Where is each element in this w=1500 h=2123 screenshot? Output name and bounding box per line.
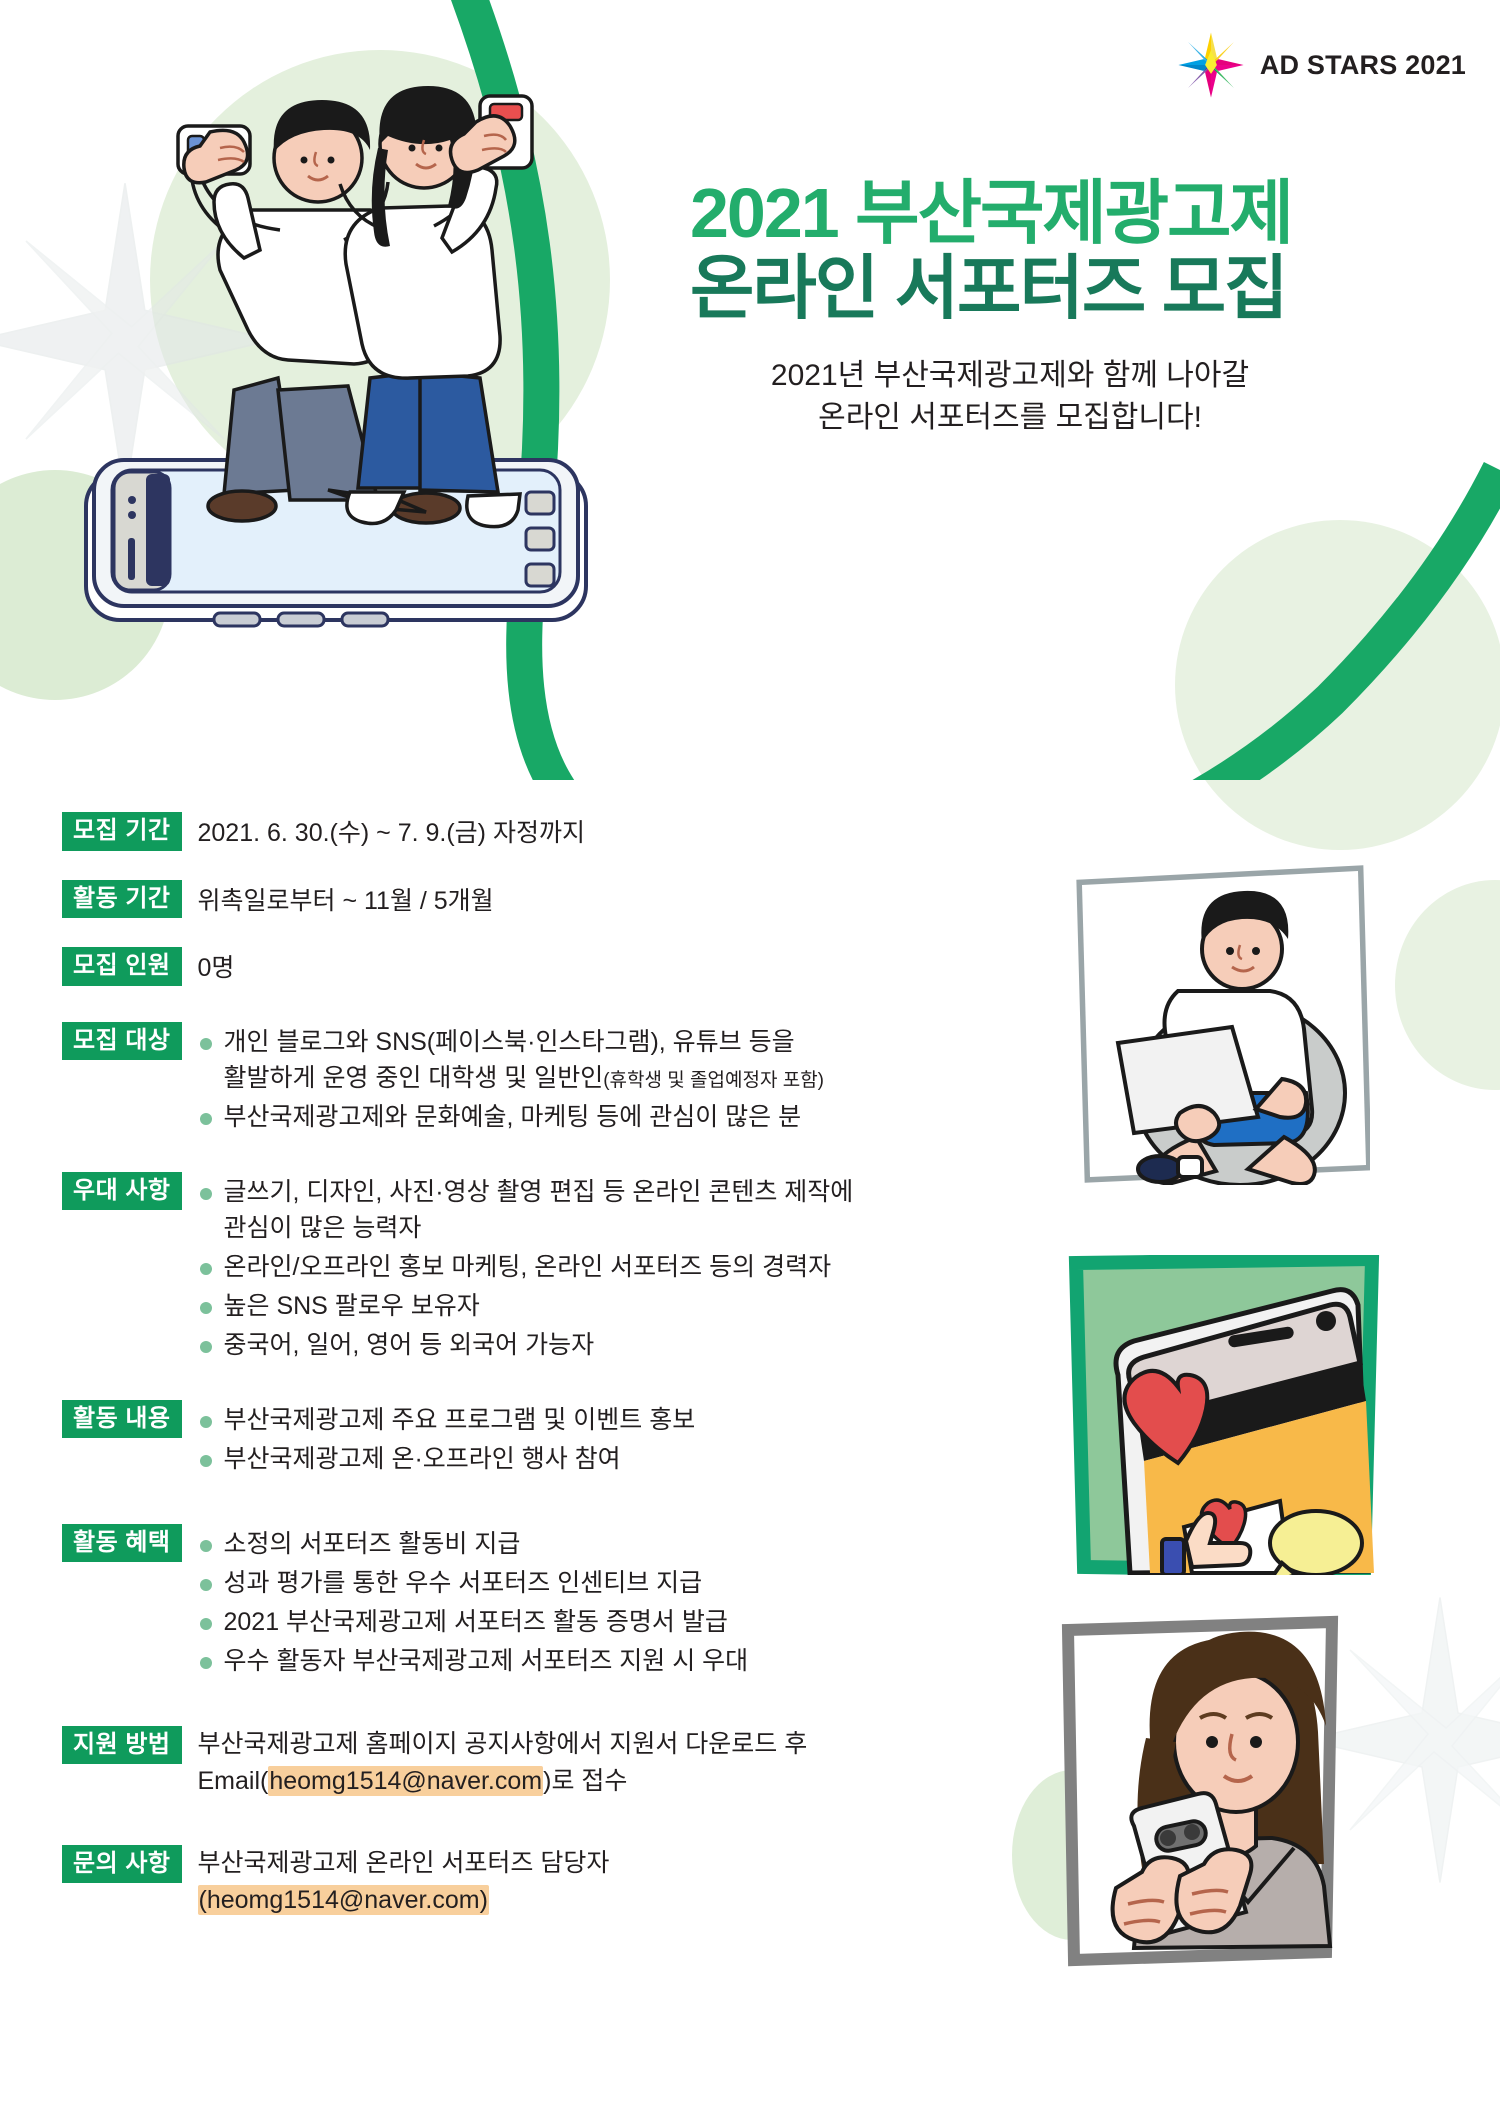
target-bullet-1-note: (휴학생 및 졸업예정자 포함) [603, 1070, 824, 1091]
adstars-logo-text: AD STARS 2021 [1260, 50, 1466, 81]
list-item: 소정의 서포터즈 활동비 지급 [198, 1526, 749, 1562]
label-benefits: 활동 혜택 [62, 1524, 182, 1563]
label-activity-content: 활동 내용 [62, 1400, 182, 1439]
label-recruit-period: 모집 기간 [62, 812, 182, 851]
title-line-2: 온라인 서포터즈 모집 [690, 253, 1330, 324]
woman-with-smartphone-illustration [1040, 1612, 1352, 1967]
section-preferred: 우대 사항 글쓰기, 디자인, 사진·영상 촬영 편집 등 온라인 콘텐츠 제작… [62, 1172, 982, 1366]
list-item: 우수 활동자 부산국제광고제 서포터즈 지원 시 우대 [198, 1643, 749, 1679]
inquiry-text: 부산국제광고제 온라인 서포터즈 담당자 (heomg1514@naver.co… [198, 1845, 610, 1920]
label-preferred: 우대 사항 [62, 1172, 182, 1211]
target-bullet-1-line2: 활발하게 운영 중인 대학생 및 일반인 [224, 1064, 604, 1092]
value-activity-period: 위촉일로부터 ~ 11월 / 5개월 [198, 880, 494, 921]
list-item: 중국어, 일어, 영어 등 외국어 가능자 [198, 1327, 854, 1363]
subtitle-line-1: 2021년 부산국제광고제와 함께 나아갈 [690, 355, 1330, 398]
boy-with-laptop-illustration [1070, 865, 1370, 1185]
label-inquiry: 문의 사항 [62, 1845, 182, 1884]
title-block: 2021 부산국제광고제 온라인 서포터즈 모집 2021년 부산국제광고제와 … [690, 178, 1330, 440]
section-how-to-apply: 지원 방법 부산국제광고제 홈페이지 공지사항에서 지원서 다운로드 후 Ema… [62, 1726, 982, 1801]
inquiry-email-link[interactable]: (heomg1514@naver.com) [198, 1885, 489, 1915]
target-bullet-1-line1: 개인 블로그와 SNS(페이스북·인스타그램), 유튜브 등을 [224, 1028, 795, 1056]
list-item: 성과 평가를 통한 우수 서포터즈 인센티브 지급 [198, 1565, 749, 1601]
hero-illustration [28, 60, 668, 685]
inquiry-line-1: 부산국제광고제 온라인 서포터즈 담당자 [198, 1845, 610, 1883]
title-line-1: 2021 부산국제광고제 [690, 178, 1330, 249]
section-recruit-count: 모집 인원 0명 [62, 947, 982, 988]
activity-content-bullet-list: 부산국제광고제 주요 프로그램 및 이벤트 홍보 부산국제광고제 온·오프라인 … [198, 1400, 696, 1480]
illustration-frame-woman-phone [1040, 1612, 1352, 1967]
email-suffix: )로 접수 [543, 1767, 627, 1795]
list-item: 부산국제광고제 온·오프라인 행사 참여 [198, 1441, 696, 1477]
list-item: 온라인/오프라인 홍보 마케팅, 온라인 서포터즈 등의 경력자 [198, 1249, 854, 1285]
label-activity-period: 활동 기간 [62, 880, 182, 919]
value-recruit-count: 0명 [198, 947, 235, 988]
list-item: 부산국제광고제와 문화예술, 마케팅 등에 관심이 많은 분 [198, 1099, 825, 1135]
target-bullet-list: 개인 블로그와 SNS(페이스북·인스타그램), 유튜브 등을 활발하게 운영 … [198, 1022, 825, 1138]
two-people-on-smartphone-illustration [28, 60, 668, 680]
section-target: 모집 대상 개인 블로그와 SNS(페이스북·인스타그램), 유튜브 등을 활발… [62, 1022, 982, 1138]
adstars-logo: AD STARS 2021 [1174, 28, 1466, 102]
label-target: 모집 대상 [62, 1022, 182, 1061]
section-benefits: 활동 혜택 소정의 서포터즈 활동비 지급 성과 평가를 통한 우수 서포터즈 … [62, 1524, 982, 1682]
list-item: 높은 SNS 팔로우 보유자 [198, 1288, 854, 1324]
list-item: 2021 부산국제광고제 서포터즈 활동 증명서 발급 [198, 1604, 749, 1640]
value-recruit-period: 2021. 6. 30.(수) ~ 7. 9.(금) 자정까지 [198, 812, 585, 853]
list-item: 개인 블로그와 SNS(페이스북·인스타그램), 유튜브 등을 활발하게 운영 … [198, 1024, 825, 1096]
list-item: 부산국제광고제 주요 프로그램 및 이벤트 홍보 [198, 1402, 696, 1438]
email-prefix: Email( [198, 1767, 269, 1795]
section-activity-period: 활동 기간 위촉일로부터 ~ 11월 / 5개월 [62, 880, 982, 921]
preferred-bullet-1-line2: 관심이 많은 능력자 [224, 1214, 422, 1242]
apply-email-link[interactable]: heomg1514@naver.com [268, 1766, 543, 1796]
list-item: 글쓰기, 디자인, 사진·영상 촬영 편집 등 온라인 콘텐츠 제작에 관심이 … [198, 1174, 854, 1246]
benefits-bullet-list: 소정의 서포터즈 활동비 지급 성과 평가를 통한 우수 서포터즈 인센티브 지… [198, 1524, 749, 1682]
adstars-star-icon [1174, 28, 1248, 102]
section-inquiry: 문의 사항 부산국제광고제 온라인 서포터즈 담당자 (heomg1514@na… [62, 1845, 982, 1920]
label-recruit-count: 모집 인원 [62, 947, 182, 986]
how-to-apply-line-1: 부산국제광고제 홈페이지 공지사항에서 지원서 다운로드 후 [198, 1726, 808, 1764]
illustration-frame-phone-social [1068, 1255, 1380, 1575]
section-recruit-period: 모집 기간 2021. 6. 30.(수) ~ 7. 9.(금) 자정까지 [62, 812, 982, 853]
info-sections: 모집 기간 2021. 6. 30.(수) ~ 7. 9.(금) 자정까지 활동… [62, 812, 982, 1930]
smartphone-social-reactions-illustration [1068, 1255, 1380, 1575]
illustration-frame-laptop-boy [1070, 865, 1370, 1185]
how-to-apply-text: 부산국제광고제 홈페이지 공지사항에서 지원서 다운로드 후 Email(heo… [198, 1726, 808, 1801]
inquiry-line-2: (heomg1514@naver.com) [198, 1882, 610, 1920]
preferred-bullet-list: 글쓰기, 디자인, 사진·영상 촬영 편집 등 온라인 콘텐츠 제작에 관심이 … [198, 1172, 854, 1366]
section-activity-content: 활동 내용 부산국제광고제 주요 프로그램 및 이벤트 홍보 부산국제광고제 온… [62, 1400, 982, 1480]
how-to-apply-line-2: Email(heomg1514@naver.com)로 접수 [198, 1763, 808, 1801]
bg-circle-right-lower [1395, 880, 1500, 1090]
label-how-to-apply: 지원 방법 [62, 1726, 182, 1765]
subtitle: 2021년 부산국제광고제와 함께 나아갈 온라인 서포터즈를 모집합니다! [690, 355, 1330, 440]
subtitle-line-2: 온라인 서포터즈를 모집합니다! [690, 397, 1330, 440]
preferred-bullet-1-line1: 글쓰기, 디자인, 사진·영상 촬영 편집 등 온라인 콘텐츠 제작에 [224, 1178, 854, 1206]
